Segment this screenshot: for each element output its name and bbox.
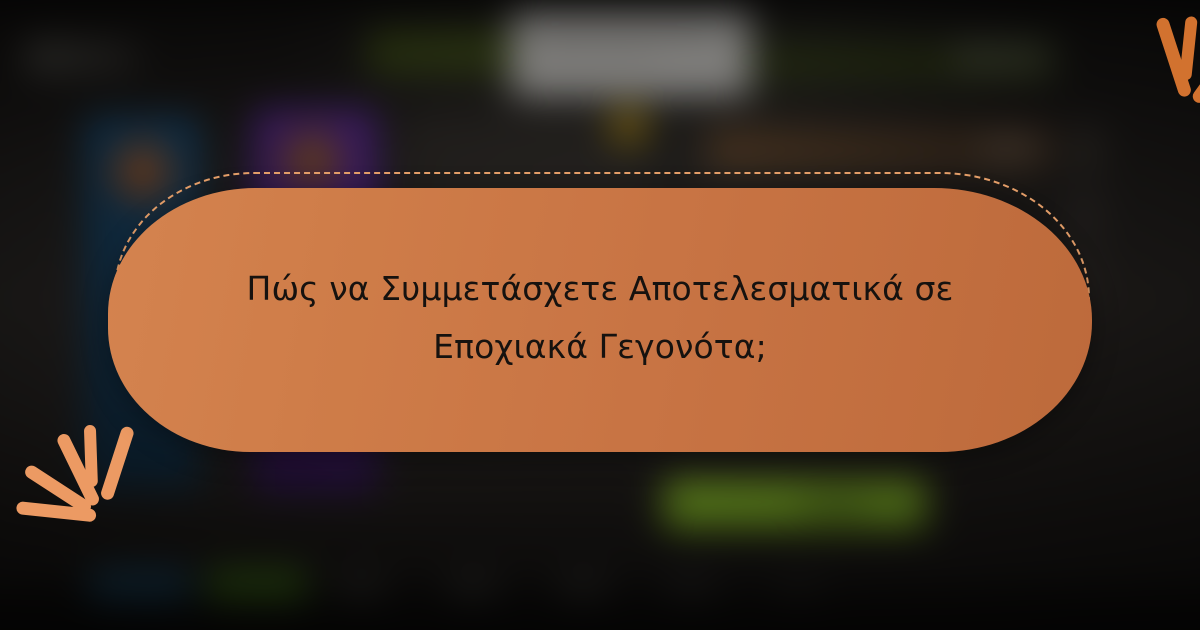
page-title-line-1: Πώς να Συμμετάσχετε Αποτελεσματικά σε	[194, 260, 1006, 318]
burst-ray-4	[84, 425, 98, 487]
page-title: Πώς να Συμμετάσχετε Αποτελεσματικά σε Επ…	[104, 260, 1096, 376]
page-title-line-2: Εποχιακά Γεγονότα;	[194, 318, 1006, 376]
title-callout: Πώς να Συμμετάσχετε Αποτελεσματικά σε Επ…	[104, 172, 1096, 452]
promo-card-canvas: Πώς να Συμμετάσχετε Αποτελεσματικά σε Επ…	[0, 0, 1200, 630]
